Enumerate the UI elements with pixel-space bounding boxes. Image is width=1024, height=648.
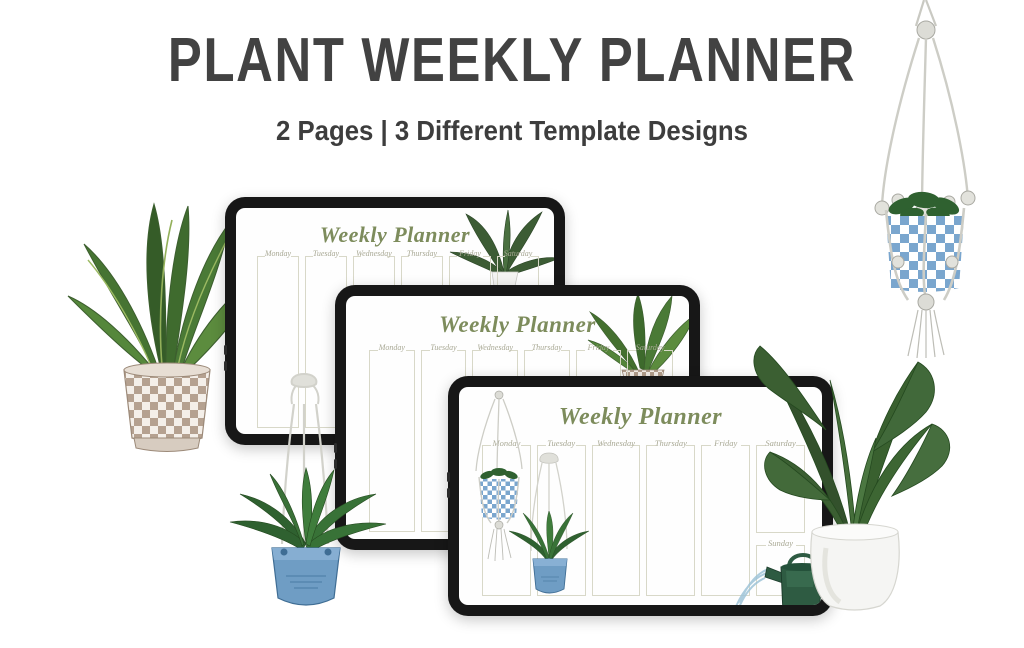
day-column: Monday <box>479 445 534 596</box>
day-cell: Friday <box>701 445 750 596</box>
planner-title: Weekly Planner <box>459 404 822 431</box>
day-cell: Tuesday <box>537 445 586 596</box>
day-label: Monday <box>257 249 299 258</box>
day-column: Monday <box>254 256 302 428</box>
day-label: Friday <box>576 343 622 352</box>
day-cell: Thursday <box>646 445 695 596</box>
day-label: Tuesday <box>537 438 586 448</box>
volume-button[interactable] <box>224 345 227 355</box>
tablet-mockup-3[interactable]: Weekly Planner Monday Tuesday Wednesday … <box>448 376 833 616</box>
day-cell: Wednesday <box>592 445 641 596</box>
day-label: Wednesday <box>472 343 518 352</box>
day-label: Saturday <box>627 343 673 352</box>
day-label: Thursday <box>524 343 570 352</box>
day-label: Sunday <box>756 538 805 548</box>
day-column: Wednesday <box>589 445 644 596</box>
day-cell: Sunday <box>756 545 805 596</box>
planner-grid: Monday Tuesday Wednesday Thursday Friday… <box>479 445 808 596</box>
tablet-screen-3: Weekly Planner Monday Tuesday Wednesday … <box>459 387 822 605</box>
day-label: Tuesday <box>305 249 347 258</box>
day-label: Wednesday <box>353 249 395 258</box>
day-label: Wednesday <box>592 438 641 448</box>
volume-button[interactable] <box>447 472 450 482</box>
day-column: Thursday <box>643 445 698 596</box>
weekly-planner-page-3: Weekly Planner Monday Tuesday Wednesday … <box>459 387 822 605</box>
day-column: Monday <box>366 350 418 532</box>
planner-title: Weekly Planner <box>236 222 554 248</box>
day-cell: Monday <box>482 445 531 596</box>
day-column-weekend: Saturday Sunday <box>753 445 808 596</box>
page-title: PLANT WEEKLY PLANNER <box>92 28 932 93</box>
day-label: Friday <box>449 249 491 258</box>
header: PLANT WEEKLY PLANNER 2 Pages | 3 Differe… <box>0 0 1024 147</box>
day-label: Monday <box>482 438 531 448</box>
day-label: Monday <box>369 343 415 352</box>
day-label: Thursday <box>646 438 695 448</box>
volume-button[interactable] <box>334 459 337 469</box>
day-cell: Monday <box>369 350 415 532</box>
volume-button[interactable] <box>334 443 337 453</box>
volume-button[interactable] <box>224 361 227 371</box>
day-label: Saturday <box>497 249 539 258</box>
volume-button[interactable] <box>447 488 450 498</box>
day-label: Tuesday <box>421 343 467 352</box>
day-column: Friday <box>698 445 753 596</box>
planner-title: Weekly Planner <box>346 312 689 338</box>
day-column: Tuesday <box>534 445 589 596</box>
day-label: Saturday <box>756 438 805 448</box>
page-subtitle: 2 Pages | 3 Different Template Designs <box>41 115 983 147</box>
day-cell: Saturday <box>756 445 805 533</box>
day-cell: Monday <box>257 256 299 428</box>
day-label: Friday <box>701 438 750 448</box>
day-label: Thursday <box>401 249 443 258</box>
